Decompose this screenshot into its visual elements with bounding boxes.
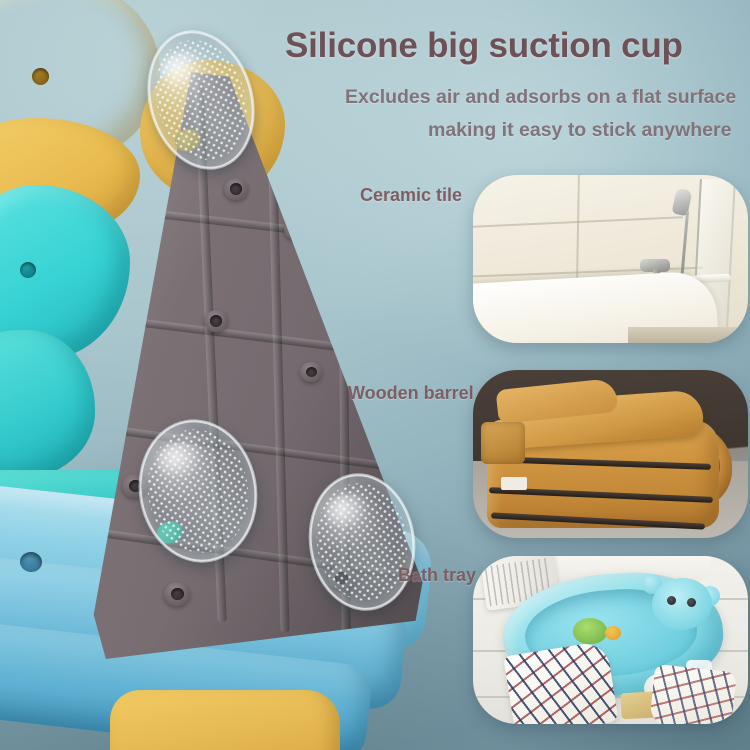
bathroom-floor-strip	[628, 327, 748, 343]
page-title: Silicone big suction cup	[285, 26, 750, 66]
cyan-part-hole	[20, 262, 36, 278]
suction-cup-right	[301, 467, 423, 616]
panel-boss-hole-3	[284, 218, 308, 240]
baby-bath-scene	[473, 556, 748, 724]
panel-boss-hole-8	[300, 362, 322, 382]
caption-bath-tray: Bath tray	[398, 565, 476, 586]
yellow-plastic-part-bottom	[110, 690, 340, 750]
bath-toy-yellow	[605, 626, 621, 640]
subtitle-line-2: making it easy to stick anywhere	[428, 119, 750, 142]
suction-cup-right-rim	[300, 466, 424, 617]
panel-boss-hole-4	[204, 310, 228, 332]
wooden-barrel-bathtub-photo	[473, 370, 748, 538]
product-infographic: Silicone big suction cup Excludes air an…	[0, 0, 750, 750]
wooden-barrel-scene	[473, 370, 748, 538]
bath-towel-left	[503, 640, 619, 724]
bath-towel-right	[649, 664, 737, 724]
caption-wooden-barrel: Wooden barrel	[348, 383, 474, 404]
barrel-label-tag	[501, 477, 527, 490]
ceramic-tile-scene	[473, 175, 748, 343]
bear-eye-left	[667, 596, 676, 605]
panel-boss-hole-6	[164, 582, 190, 606]
barrel-side-basket	[481, 422, 525, 464]
suction-cup-mid	[129, 411, 268, 571]
panel-rib-h1	[116, 206, 371, 243]
subtitle-line-1: Excludes air and adsorbs on a flat surfa…	[345, 86, 750, 109]
panel-rib-h2	[109, 315, 390, 357]
bath-toy-green	[573, 618, 607, 644]
cyan-plastic-part-lower	[0, 330, 95, 480]
bear-eye-right	[687, 598, 696, 607]
caption-ceramic-tile: Ceramic tile	[360, 185, 462, 206]
baby-bath-tray-photo	[473, 556, 748, 724]
ceramic-tile-bathroom-photo	[473, 175, 748, 343]
headline-block: Silicone big suction cup Excludes air an…	[0, 0, 750, 200]
